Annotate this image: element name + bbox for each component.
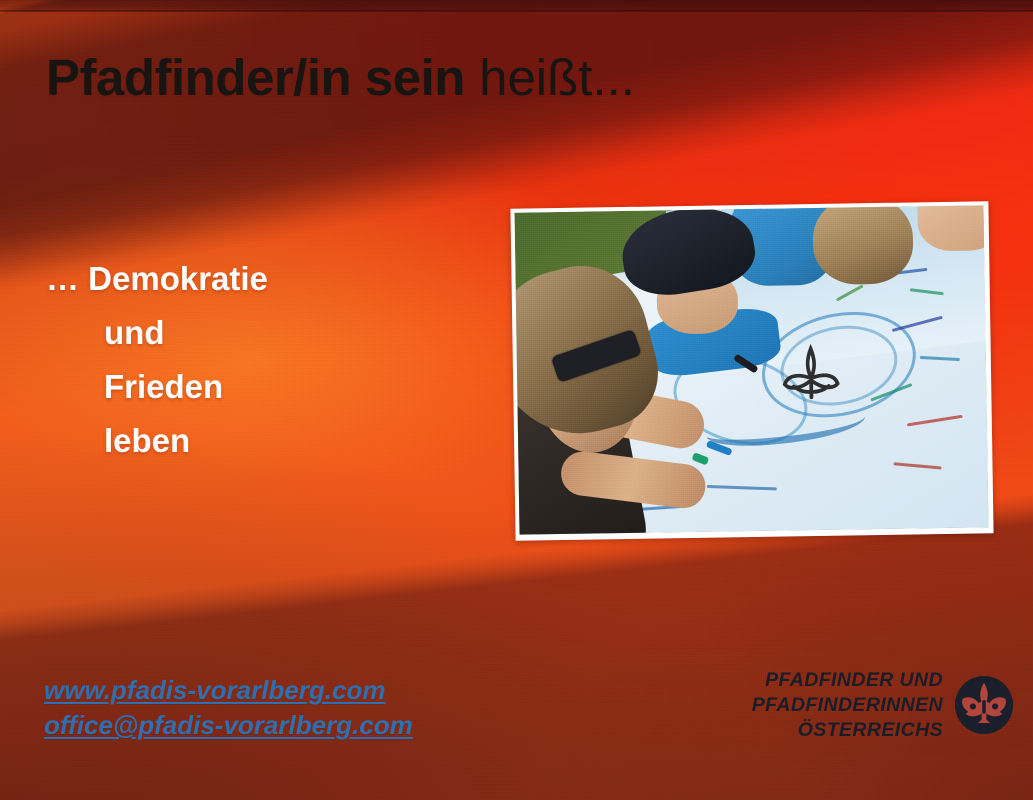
brand-name: PFADFINDER UND PFADFINDERINNEN ÖSTERREIC… — [752, 668, 943, 743]
scout-fleur-de-lis-emblem-icon — [953, 674, 1015, 736]
email-link[interactable]: office@pfadis-vorarlberg.com — [44, 708, 413, 743]
brand-line-1: PFADFINDER UND — [752, 668, 943, 693]
website-link[interactable]: www.pfadis-vorarlberg.com — [44, 673, 413, 708]
brand-line-3: ÖSTERREICHS — [752, 718, 943, 743]
brand-line-2: PFADFINDERINNEN — [752, 693, 943, 718]
contact-links: www.pfadis-vorarlberg.com office@pfadis-… — [44, 673, 413, 742]
brand-lockup: PFADFINDER UND PFADFINDERINNEN ÖSTERREIC… — [752, 668, 1015, 743]
poster-slide: Pfadfinder/in sein heißt... … Demokratie… — [0, 0, 1033, 800]
